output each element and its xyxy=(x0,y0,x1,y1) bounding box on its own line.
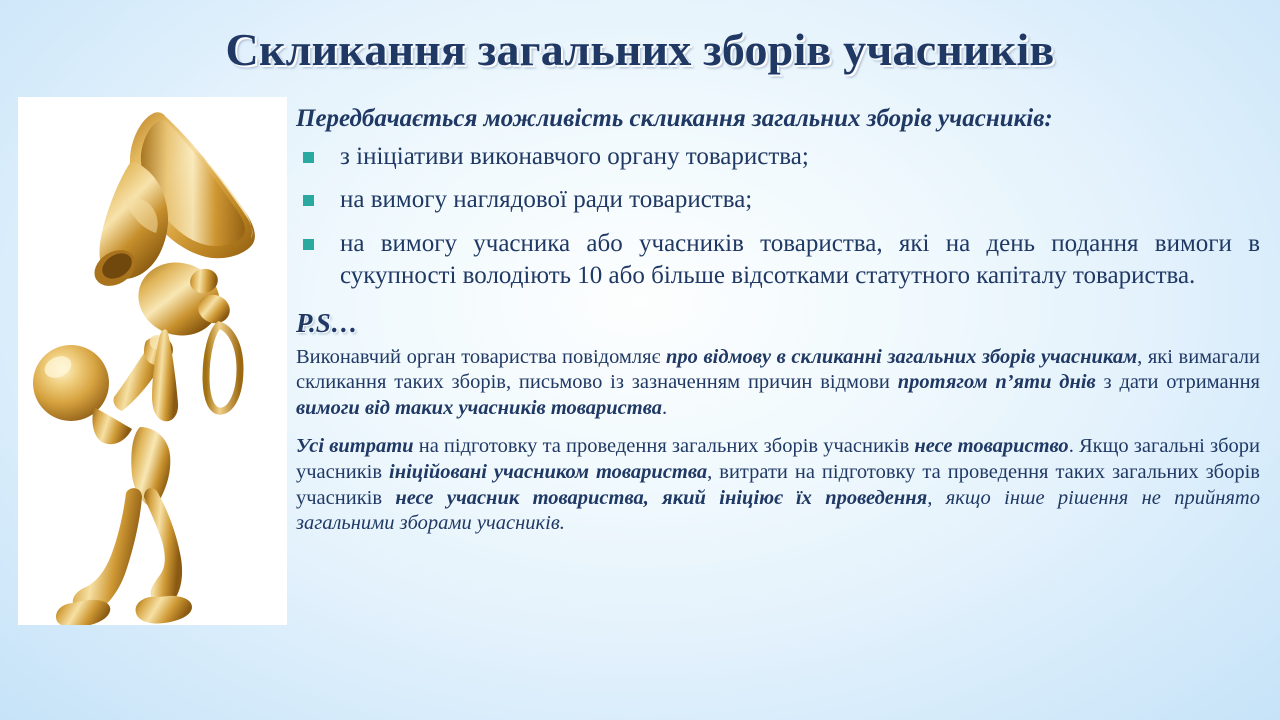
square-bullet-icon xyxy=(303,195,314,206)
intro-lead: Передбачається можливість скликання зага… xyxy=(296,105,1044,132)
list-item-label: на вимогу учасника або учасників товарис… xyxy=(340,230,1260,290)
ps1-seg-a: Виконавчий орган товариства повідомляє xyxy=(296,346,666,368)
ps2-seg-c-emphasis: несе товариство xyxy=(914,435,1068,457)
intro-paragraph: Передбачається можливість скликання зага… xyxy=(296,104,1260,135)
list-item: на вимогу учасника або учасників товарис… xyxy=(296,228,1260,293)
ps-heading: P.S… xyxy=(296,308,1260,339)
ps2-seg-a-emphasis: Усі витрати xyxy=(296,435,414,457)
intro-colon: : xyxy=(1044,105,1052,132)
page-title: Скликання загальних зборів учасників xyxy=(0,26,1280,74)
ps1-seg-f-emphasis: вимоги від таких учасників товариства xyxy=(296,397,662,419)
bullet-list: з ініціативи виконавчого органу товарист… xyxy=(296,141,1260,293)
list-item: з ініціативи виконавчого органу товарист… xyxy=(296,141,1260,174)
ps-paragraph-1: Виконавчий орган товариства повідомляє п… xyxy=(296,345,1260,422)
ps1-seg-g: . xyxy=(662,397,667,419)
list-item-label: з ініціативи виконавчого органу товарист… xyxy=(340,143,809,170)
list-item: на вимогу наглядової ради товариства; xyxy=(296,184,1260,217)
square-bullet-icon xyxy=(303,239,314,250)
ps2-seg-b: на підготовку та проведення загальних зб… xyxy=(414,435,915,457)
square-bullet-icon xyxy=(303,152,314,163)
slide-content: Передбачається можливість скликання зага… xyxy=(296,104,1260,537)
golden-figure-megaphone-illustration xyxy=(18,97,287,625)
ps2-seg-g-emphasis: несе учасник товариства, який ініціює їх… xyxy=(395,487,927,509)
ps1-seg-b-emphasis: про відмову в скликанні загальних зборів… xyxy=(666,346,1137,368)
list-item-label: на вимогу наглядової ради товариства; xyxy=(340,186,752,213)
ps1-seg-d-emphasis: протягом п’яти днів xyxy=(898,371,1096,393)
ps2-seg-e-emphasis: ініційовані учасником товариства xyxy=(389,461,707,483)
ps-paragraph-2: Усі витрати на підготовку та проведення … xyxy=(296,434,1260,537)
ps1-seg-e: з дати отримання xyxy=(1096,371,1260,393)
megaphone-figure-image xyxy=(18,97,287,625)
